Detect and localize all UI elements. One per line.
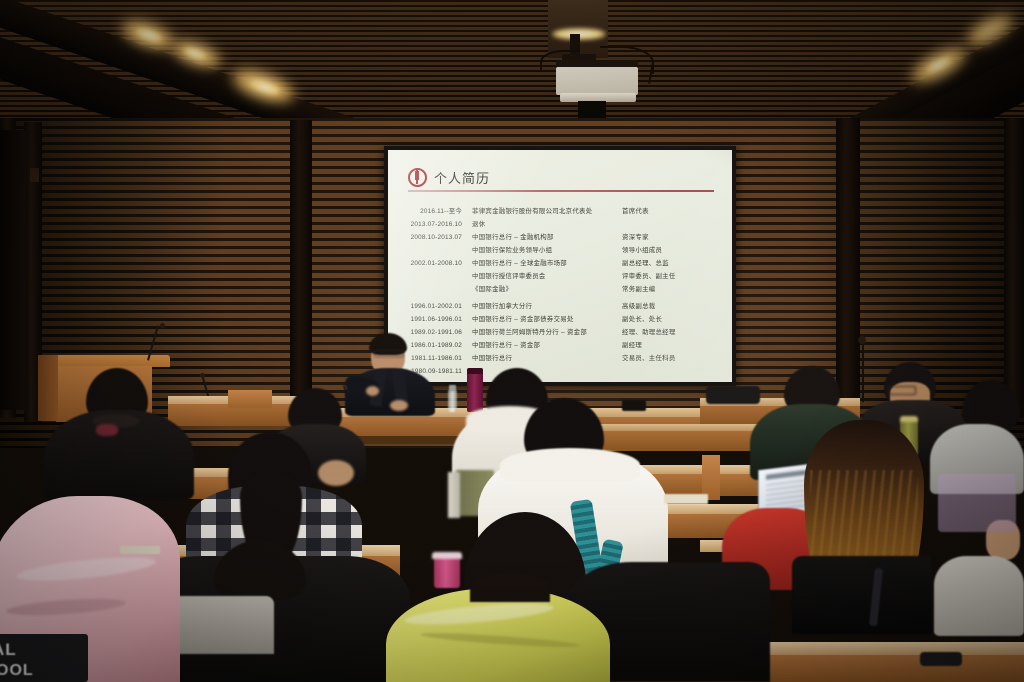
- slide-title: 个人简历: [434, 168, 490, 187]
- cell-date: 1996.01-2002.01: [388, 301, 472, 312]
- cell-role: 副经理: [622, 340, 732, 351]
- audience-member-right-edge-body: [934, 556, 1024, 636]
- slide-resume-table: 2016.11--至今 菲律宾金融银行股份有限公司北京代表处 首席代表 2013…: [388, 206, 732, 379]
- table-row: 2008.10-2013.07 中国银行总行 – 金融机构部 资深专家: [388, 232, 732, 243]
- table-row: 1980.09-1981.11: [388, 366, 732, 377]
- paper-on-bench-left: [120, 546, 160, 554]
- lectern-microphone-head-2: [200, 373, 205, 378]
- table-row: 1986.01-1989.02 中国银行总行 – 资金部 副经理: [388, 340, 732, 351]
- wall-pillar-right: [1004, 118, 1024, 418]
- pink-cup-lid: [432, 552, 462, 559]
- audience-member-plaid-arm: [318, 460, 354, 486]
- wall-door-left: [0, 130, 26, 410]
- cell-role: 资深专家: [622, 232, 732, 243]
- bag-lettering-line1: AL: [0, 640, 38, 660]
- thermos-olive-lid: [900, 416, 918, 422]
- cell-org: 退休: [472, 219, 622, 230]
- cell-date: 2008.10-2013.07: [388, 232, 472, 243]
- lectern-side-shadow: [38, 355, 58, 421]
- audience-member-white-hood-book-edge: [448, 472, 460, 518]
- cell-org: 中国银行总行: [472, 353, 622, 364]
- cell-org: 中国银行授信评审委员会: [472, 271, 622, 282]
- audience-member-back-left-red-accent: [96, 424, 118, 436]
- table-row: 中国银行保险业务领导小组 领导小组成员: [388, 245, 732, 256]
- side-desk-left-panel: [228, 390, 272, 408]
- table-row: 2013.07-2016.10 退休: [388, 219, 732, 230]
- cell-date: 2002.01-2008.10: [388, 258, 472, 269]
- cell-role: 首席代表: [622, 206, 732, 217]
- cell-role: 副总经理、总监: [622, 258, 732, 269]
- table-row: 2016.11--至今 菲律宾金融银行股份有限公司北京代表处 首席代表: [388, 206, 732, 217]
- projector-cable-left: [540, 50, 580, 70]
- cell-date: 1991.06-1996.01: [388, 314, 472, 325]
- water-bottle-clear: [448, 390, 457, 412]
- audience-member-glasses-eyewear: [888, 386, 916, 395]
- bank-of-china-logo: [408, 168, 427, 187]
- pink-cup: [434, 556, 460, 588]
- cell-role: 副处长、处长: [622, 314, 732, 325]
- table-row: 1991.06-1996.01 中国银行总行 – 资金部债券交易处 副处长、处长: [388, 314, 732, 325]
- cell-role: 常务副主编: [622, 284, 732, 295]
- cell-org: 中国银行加拿大分行: [472, 301, 622, 312]
- cell-org: 中国银行荷兰阿姆斯特丹分行 – 资金部: [472, 327, 622, 338]
- cell-org: 中国银行保险业务领导小组: [472, 245, 622, 256]
- cell-org: 中国银行总行 – 资金部: [472, 340, 622, 351]
- cell-org: 中国银行总行 – 金融机构部: [472, 232, 622, 243]
- speaker-hand-gesturing: [366, 386, 379, 396]
- table-row: 2002.01-2008.10 中国银行总行 – 全球金融市场部 副总经理、总监: [388, 258, 732, 269]
- cell-date: 2013.07-2016.10: [388, 219, 472, 230]
- table-row: 1989.02-1991.06 中国银行荷兰阿姆斯特丹分行 – 资金部 经理、助…: [388, 327, 732, 338]
- slide-header: 个人简历: [408, 168, 490, 187]
- audience-member-yellow-coat-head: [470, 572, 550, 602]
- side-desk-right-bag: [706, 386, 760, 404]
- wall-pillar-center-right: [836, 118, 860, 408]
- chair-back-right: [938, 474, 1016, 532]
- speaker-glasses: [374, 350, 404, 357]
- cell-role: 领导小组成员: [622, 245, 732, 256]
- lecture-hall-photo: 个人简历 2016.11--至今 菲律宾金融银行股份有限公司北京代表处 首席代表…: [0, 0, 1024, 682]
- bench-row-front-right-face: [740, 655, 1024, 682]
- audience-member-backpack-hood: [500, 448, 640, 482]
- phone-on-desk: [920, 652, 962, 666]
- cell-org: 中国银行总行 – 全球金融市场部: [472, 258, 622, 269]
- speaker-suit-jacket: [345, 368, 435, 416]
- floor-microphone-stand: [862, 340, 864, 402]
- table-row: 1981.11-1986.01 中国银行总行 交易员、主任科员: [388, 353, 732, 364]
- thermos-magenta: [467, 372, 483, 412]
- cell-org: 《国际金融》: [472, 284, 622, 295]
- cell-role: 经理、助理总经理: [622, 327, 732, 338]
- table-row: 1996.01-2002.01 中国银行加拿大分行 高级副总裁: [388, 301, 732, 312]
- projection-screen: 个人简历 2016.11--至今 菲律宾金融银行股份有限公司北京代表处 首席代表…: [388, 150, 732, 382]
- cell-role: 交易员、主任科员: [622, 353, 732, 364]
- water-bottle-cap: [449, 385, 456, 391]
- cell-role: 评审委员、副主任: [622, 271, 732, 282]
- wall-light-switch-plate: [30, 168, 39, 182]
- dark-bag-on-bench-right: [792, 556, 932, 634]
- lectern-microphone-head: [160, 323, 165, 328]
- paper-on-bench: [664, 494, 708, 504]
- wall-pillar-center-left: [290, 120, 312, 410]
- thermos-magenta-lid: [467, 368, 483, 374]
- speaker-hand-resting: [390, 400, 408, 411]
- bench-row-front-right-top: [740, 642, 1024, 656]
- cell-org: 菲律宾金融银行股份有限公司北京代表处: [472, 206, 622, 217]
- table-row: 中国银行授信评审委员会 评审委员、副主任: [388, 271, 732, 282]
- table-row: 《国际金融》 常务副主编: [388, 284, 732, 295]
- floor-microphone-head: [858, 336, 866, 344]
- cell-role: 高级副总裁: [622, 301, 732, 312]
- cell-date: 2016.11--至今: [388, 206, 472, 217]
- cell-org: 中国银行总行 – 资金部债券交易处: [472, 314, 622, 325]
- bag-lettering-line2: OOL: [0, 662, 52, 680]
- head-table-device: [622, 400, 646, 411]
- slide-title-rule: [408, 190, 714, 192]
